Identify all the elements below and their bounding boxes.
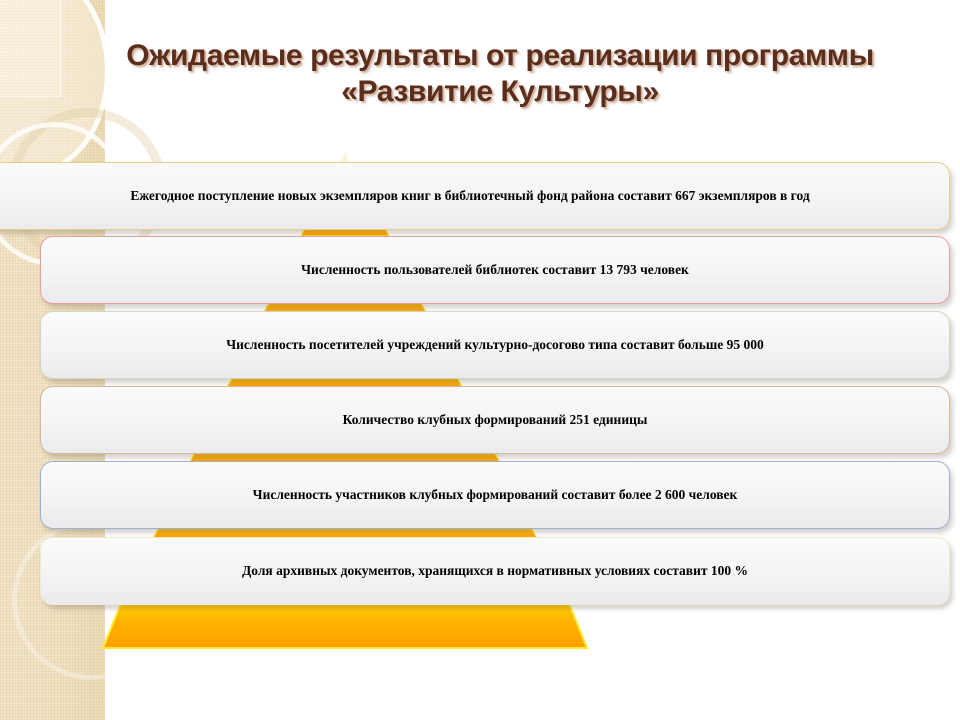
page-title: Ожидаемые результаты от реализации прогр… [95, 38, 905, 110]
result-box-4[interactable]: Количество клубных формирований 251 един… [40, 386, 950, 454]
result-box-2-label: Численность пользователей библиотек сост… [287, 262, 703, 278]
decorative-corner-panel [0, 0, 61, 97]
result-box-1[interactable]: Ежегодное поступление новых экземпляров … [0, 162, 950, 230]
result-box-6[interactable]: Доля архивных документов, хранящихся в н… [40, 537, 950, 605]
result-box-6-label: Доля архивных документов, хранящихся в н… [228, 563, 762, 579]
slide-canvas: Ожидаемые результаты от реализации прогр… [0, 0, 960, 720]
result-box-2[interactable]: Численность пользователей библиотек сост… [40, 236, 950, 304]
result-box-1-label: Ежегодное поступление новых экземпляров … [116, 188, 823, 204]
result-box-5[interactable]: Численность участников клубных формирова… [40, 461, 950, 529]
result-box-5-label: Численность участников клубных формирова… [239, 487, 752, 503]
result-box-3[interactable]: Численность посетителей учреждений культ… [40, 311, 950, 379]
result-box-3-label: Численность посетителей учреждений культ… [212, 337, 778, 353]
result-box-4-label: Количество клубных формирований 251 един… [329, 412, 662, 428]
